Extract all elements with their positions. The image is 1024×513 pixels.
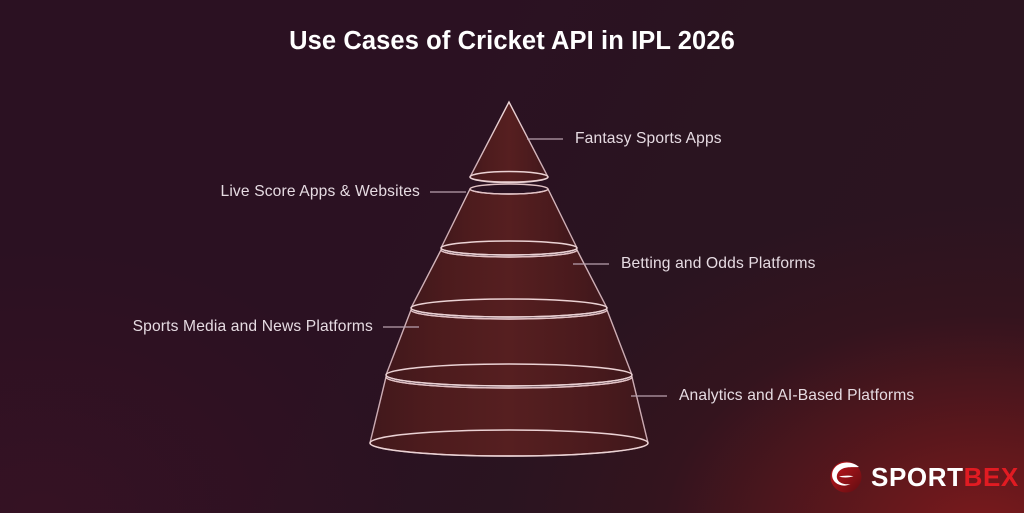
funnel-segment-fantasy-sports-apps[interactable] xyxy=(470,102,548,183)
swoosh-circle-icon xyxy=(826,457,866,497)
infographic-canvas: Use Cases of Cricket API in IPL 2026 xyxy=(0,0,1024,513)
funnel-segment-live-score-apps-and-websites[interactable] xyxy=(441,184,577,255)
logo-text-sport: SPORT xyxy=(871,462,964,492)
funnel-label-fantasy-sports-apps[interactable]: Fantasy Sports Apps xyxy=(575,130,722,148)
funnel-label-betting-and-odds-platforms[interactable]: Betting and Odds Platforms xyxy=(621,255,816,273)
segment-1-body xyxy=(470,102,548,182)
logo-wordmark: SPORTBEX xyxy=(871,464,1019,490)
segment-2-top-rim xyxy=(470,184,548,194)
funnel-label-live-score-apps-and-websites[interactable]: Live Score Apps & Websites xyxy=(221,183,421,201)
segment-4-body xyxy=(386,310,632,386)
funnel-label-analytics-and-ai-based-platforms[interactable]: Analytics and AI-Based Platforms xyxy=(679,387,914,405)
logo-text-bex: BEX xyxy=(964,462,1019,492)
segment-3-body xyxy=(411,250,607,317)
brand-logo[interactable]: SPORTBEX xyxy=(826,456,1002,498)
segment-2-body xyxy=(441,189,577,255)
funnel-label-sports-media-and-news-platforms[interactable]: Sports Media and News Platforms xyxy=(133,318,373,336)
funnel-diagram xyxy=(0,0,1024,513)
segment-5-body xyxy=(370,377,648,456)
